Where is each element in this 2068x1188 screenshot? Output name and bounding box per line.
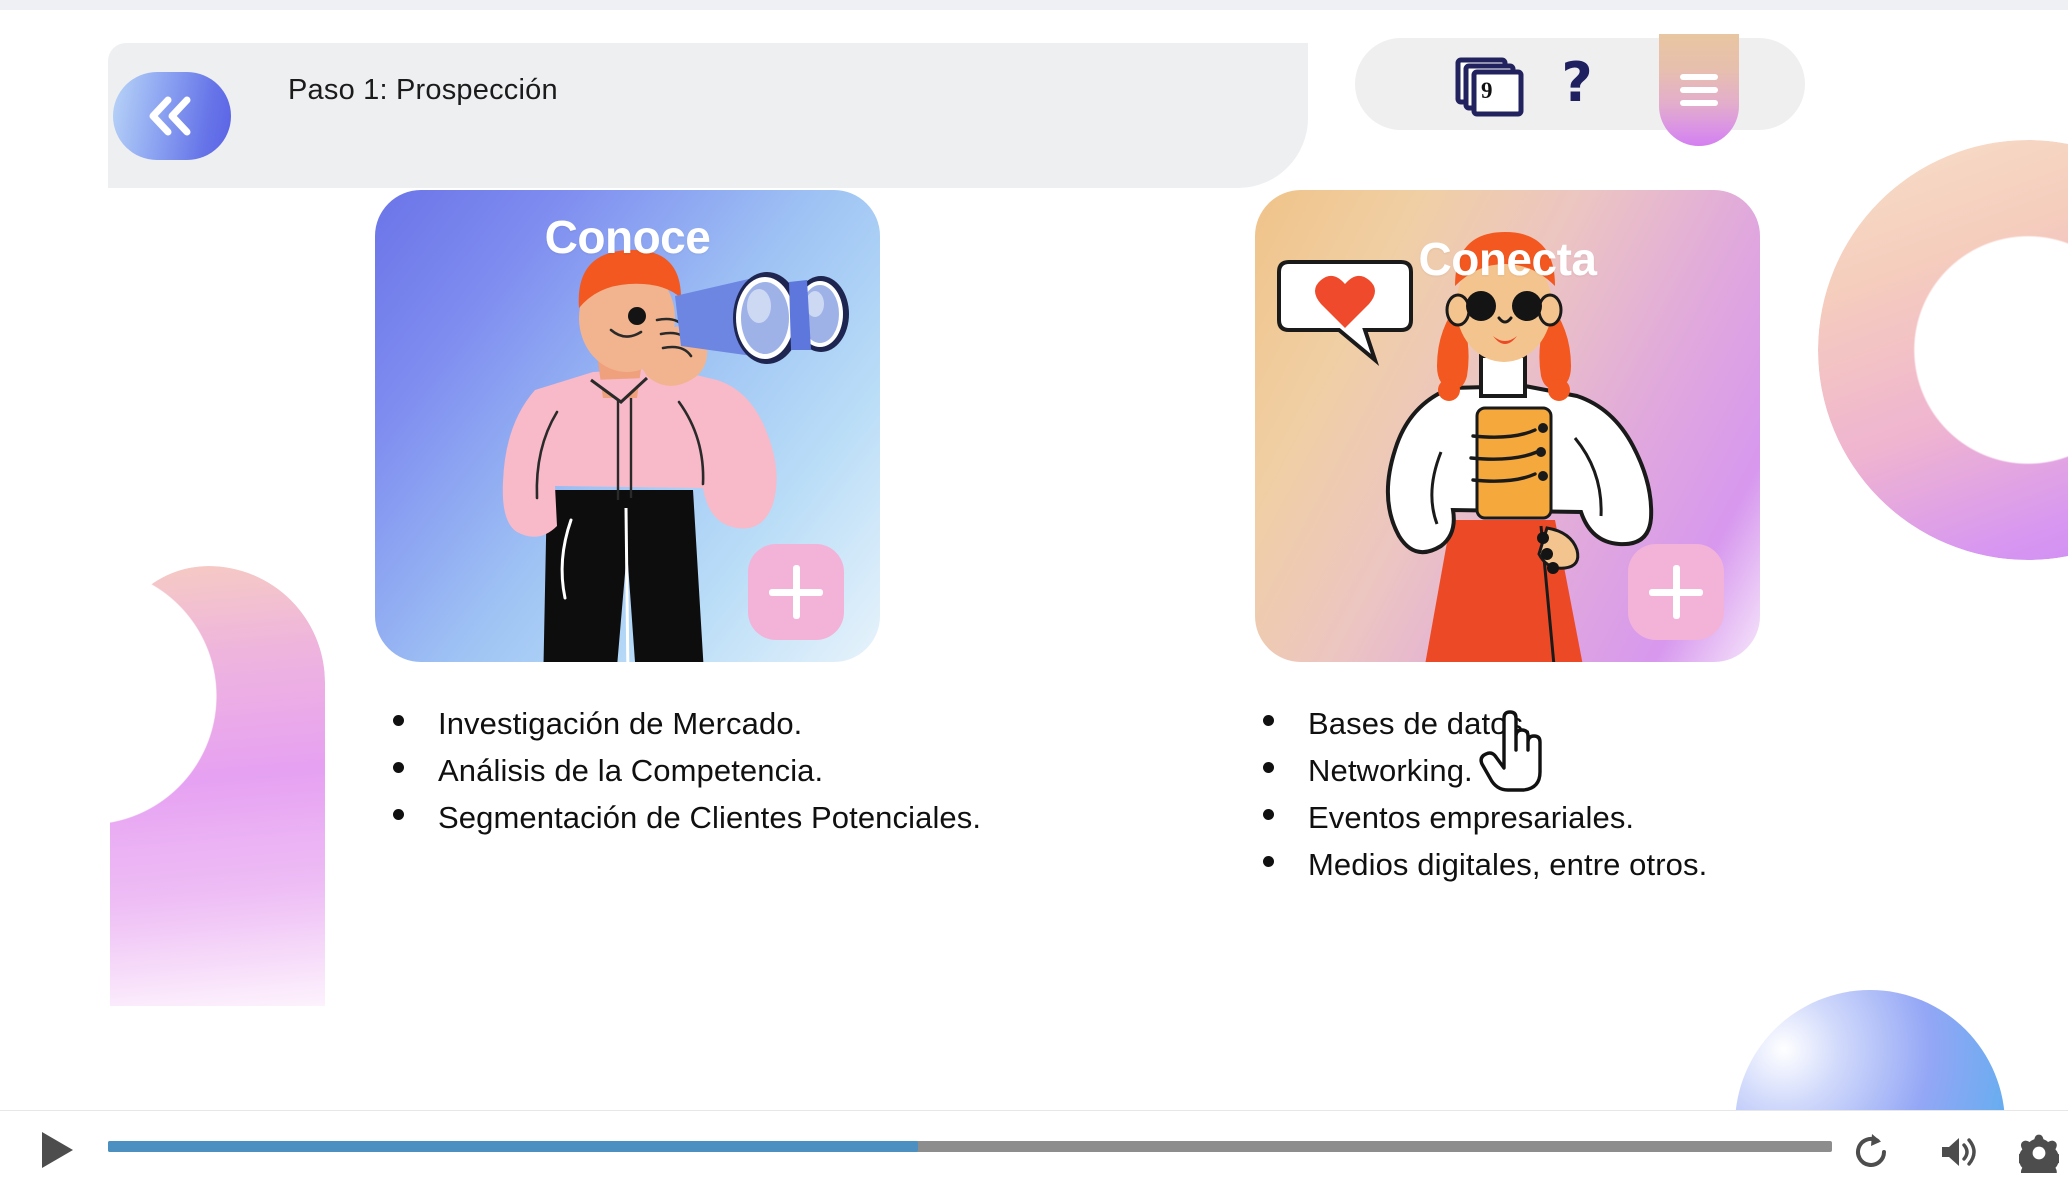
slides-stack-icon[interactable]: 9 (1455, 56, 1527, 118)
progress-bar[interactable] (108, 1141, 1832, 1152)
card-conecta[interactable]: Conecta (1255, 190, 1760, 662)
double-chevron-left-icon (144, 95, 200, 137)
hamburger-menu-button[interactable] (1659, 34, 1739, 146)
card-title: Conoce (375, 210, 880, 264)
list-item-label: Networking. (1308, 747, 1473, 794)
list-item: Eventos empresariales. (1263, 794, 1707, 841)
list-item: Investigación de Mercado. (393, 700, 981, 747)
bullet-dot (1263, 809, 1274, 820)
list-item-label: Análisis de la Competencia. (438, 747, 823, 794)
list-item: Bases de datos. (1263, 700, 1707, 747)
list-item-label: Medios digitales, entre otros. (1308, 841, 1707, 888)
list-item-label: Investigación de Mercado. (438, 700, 802, 747)
hamburger-menu-icon (1680, 67, 1718, 113)
progress-fill (108, 1141, 918, 1152)
card-conoce[interactable]: Conoce (375, 190, 880, 662)
bullet-list-conoce: Investigación de Mercado. Análisis de la… (393, 700, 981, 841)
slide-canvas: Paso 1: Prospección 9 ? Conoce (0, 10, 2068, 1110)
column-conoce: Conoce (375, 190, 1035, 662)
question-mark-icon[interactable]: ? (1548, 52, 1606, 118)
gradient-hook-shape (110, 566, 325, 1006)
list-item-label: Bases de datos. (1308, 700, 1532, 747)
bullet-dot (393, 809, 404, 820)
bullet-dot (393, 715, 404, 726)
replay-icon[interactable] (1851, 1131, 1893, 1173)
page-title: Paso 1: Prospección (288, 70, 558, 110)
gear-icon[interactable] (2019, 1133, 2059, 1173)
top-strip (0, 0, 2068, 10)
slide-player-app: Paso 1: Prospección 9 ? Conoce (0, 0, 2068, 1188)
bullet-list-conecta: Bases de datos. Networking. Eventos empr… (1263, 700, 1707, 888)
blue-gradient-circle (1735, 990, 2005, 1110)
back-button[interactable] (113, 72, 231, 160)
list-item-label: Segmentación de Clientes Potenciales. (438, 794, 981, 841)
list-item: Análisis de la Competencia. (393, 747, 981, 794)
volume-on-icon[interactable] (1936, 1131, 1978, 1173)
slides-count-badge: 9 (1481, 78, 1493, 104)
bullet-dot (1263, 856, 1274, 867)
list-item: Medios digitales, entre otros. (1263, 841, 1707, 888)
list-item: Networking. (1263, 747, 1707, 794)
card-title: Conecta (1255, 232, 1760, 286)
play-triangle-icon (33, 1161, 79, 1176)
bullet-dot (393, 762, 404, 773)
player-bar (0, 1110, 2068, 1188)
bullet-dot (1263, 715, 1274, 726)
column-conecta: Conecta (1255, 190, 1915, 662)
play-button[interactable] (33, 1127, 79, 1173)
bullet-dot (1263, 762, 1274, 773)
header-panel (108, 43, 1308, 188)
add-button-conoce[interactable] (748, 544, 844, 640)
list-item-label: Eventos empresariales. (1308, 794, 1634, 841)
add-button-conecta[interactable] (1628, 544, 1724, 640)
list-item: Segmentación de Clientes Potenciales. (393, 794, 981, 841)
